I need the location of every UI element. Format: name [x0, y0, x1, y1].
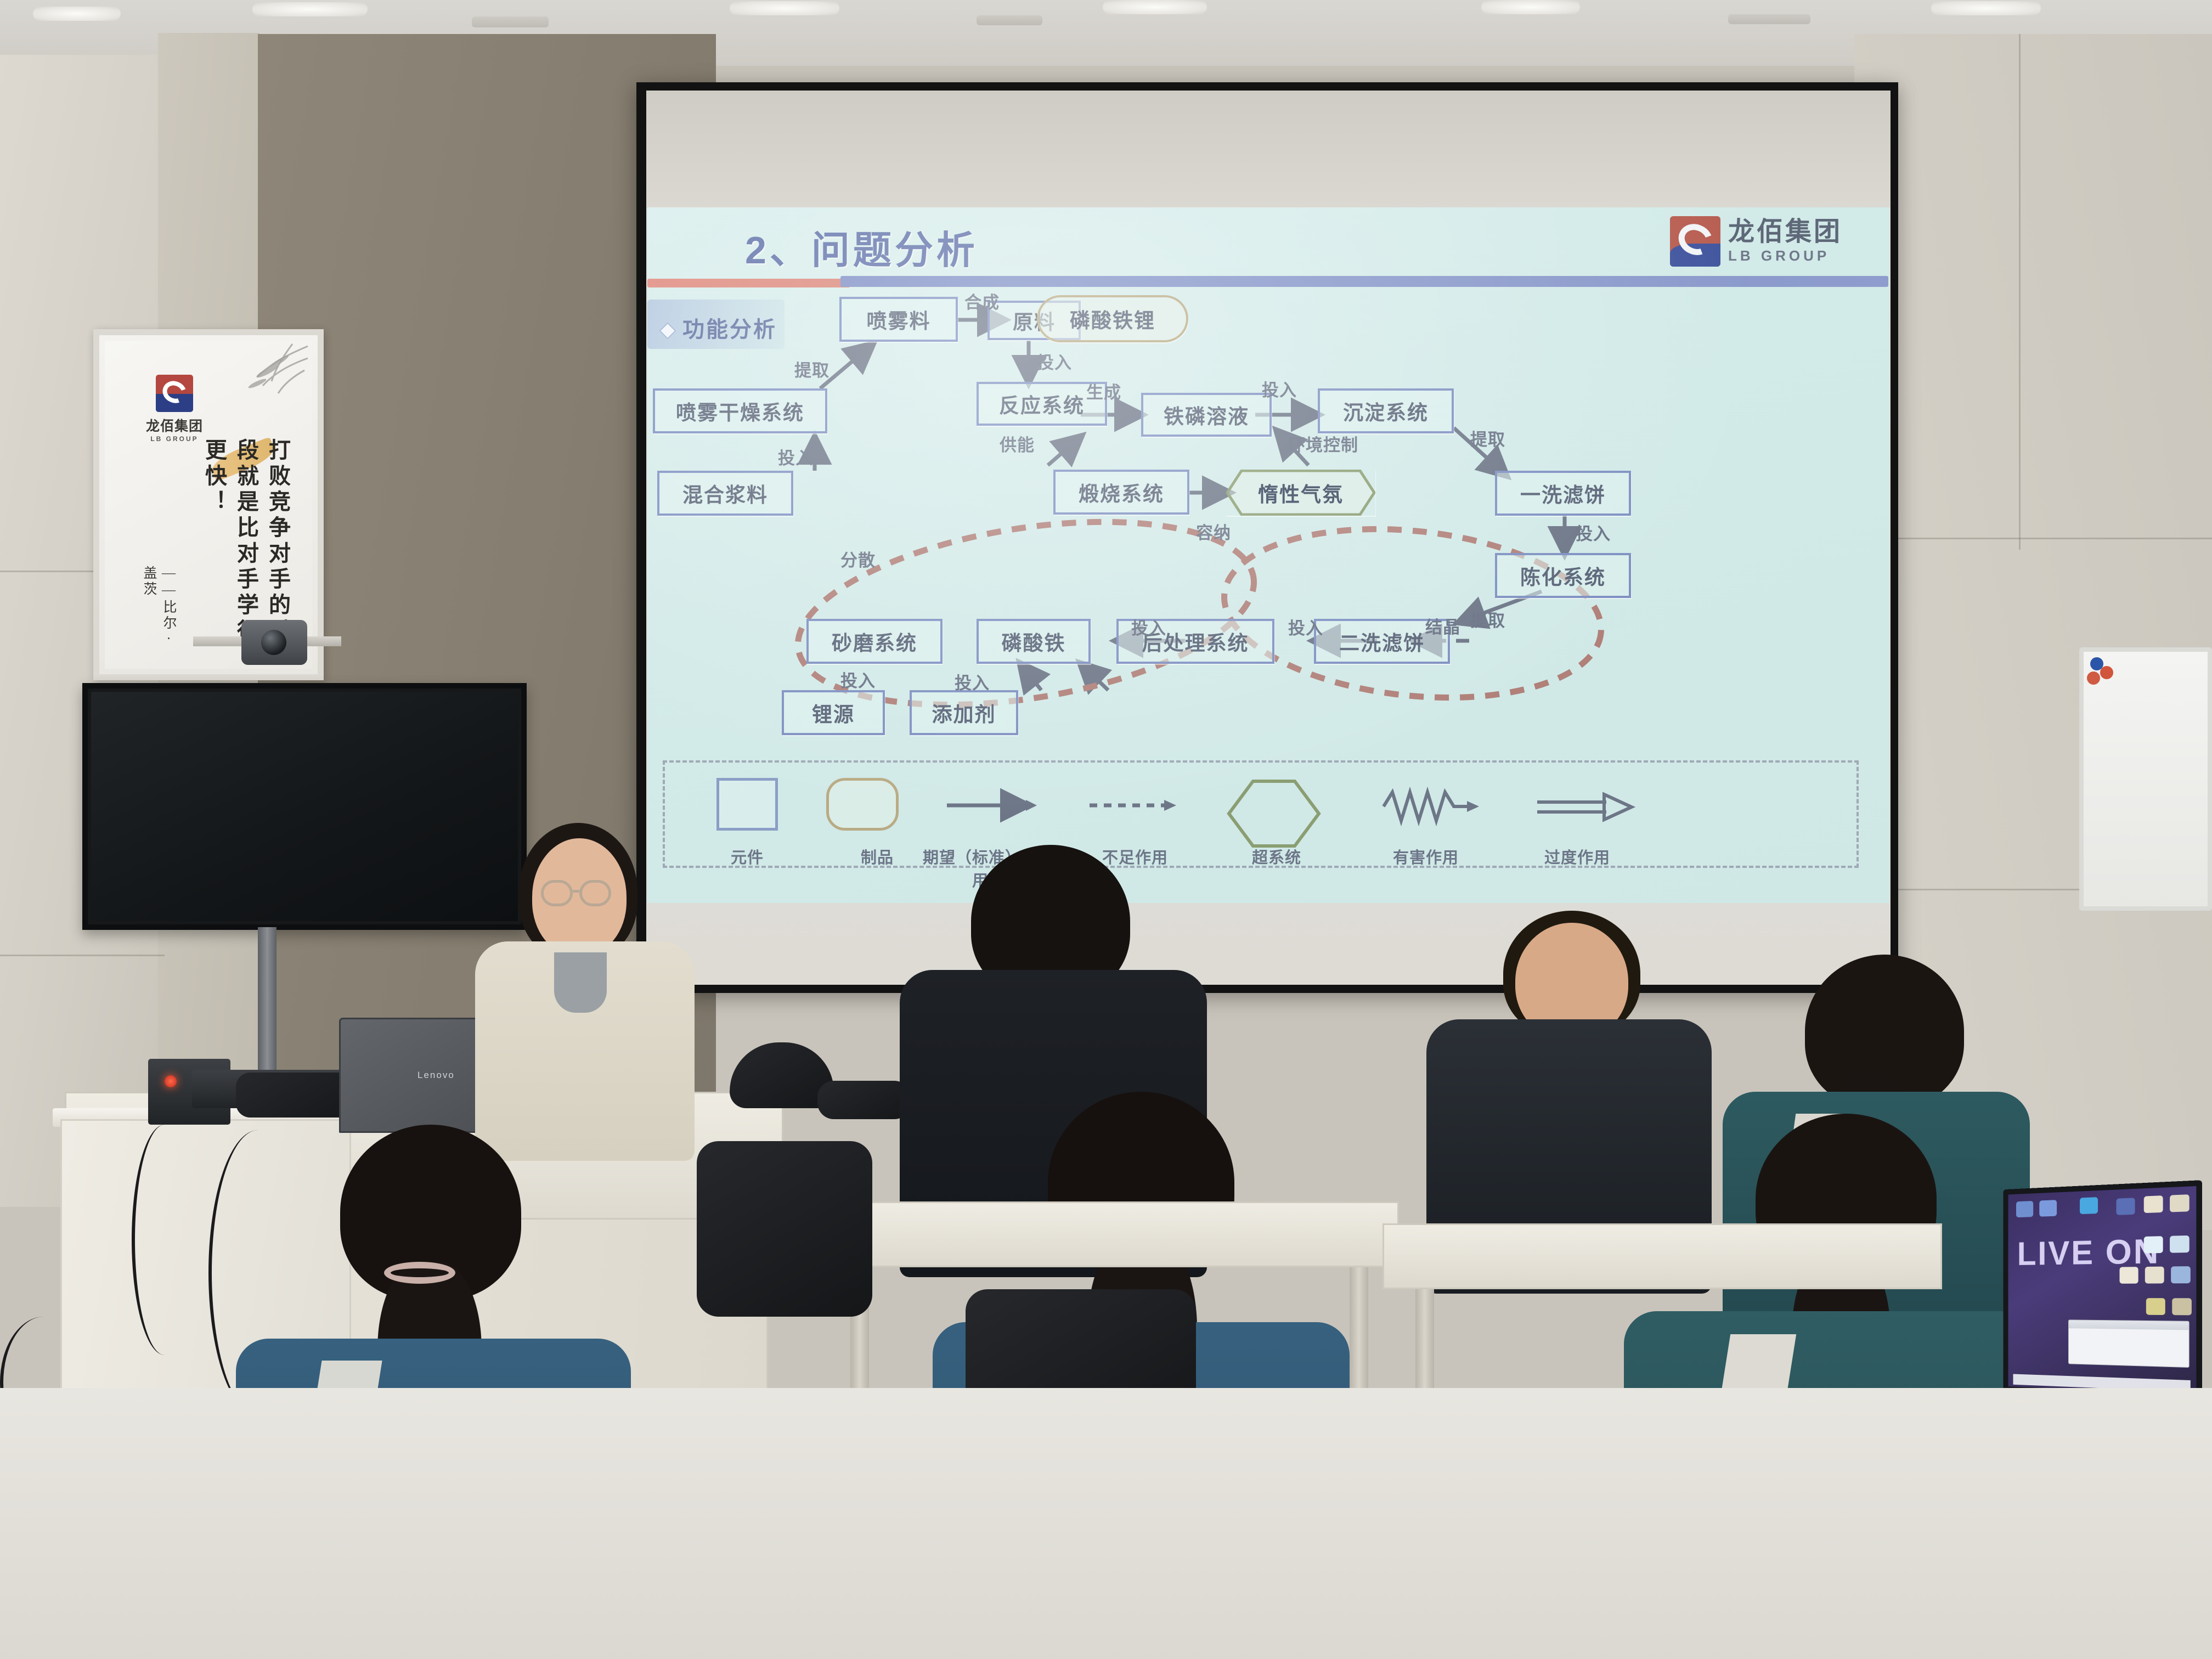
desktop-icon-app[interactable] [2171, 1266, 2191, 1283]
attendee-laptop-screen[interactable]: LIVE ON [2008, 1186, 2196, 1394]
desktop-icon-app[interactable] [2119, 1267, 2138, 1284]
glasses-right-lens-icon [579, 880, 611, 906]
power-led-indicator [165, 1075, 177, 1087]
node-iron-phosphate: 磷酸铁 [977, 619, 1091, 664]
desktop-icon-folder[interactable] [2016, 1201, 2033, 1217]
node-precipitation-system: 沉淀系统 [1318, 388, 1454, 433]
desktop-icon-recycle-bin[interactable] [2117, 1198, 2135, 1215]
node-calcination-system: 煅烧系统 [1053, 470, 1189, 515]
edge-label-generate: 生成 [1086, 379, 1121, 403]
glasses-left-lens-icon [541, 880, 573, 906]
photo-scene: 2、问题分析 功能分析 龙佰集团 LB GROUP [0, 0, 2212, 1659]
section-label: 功能分析 [682, 318, 777, 342]
presenter [472, 823, 702, 1152]
glasses-bridge-icon [573, 890, 579, 893]
audience-desk-row2-right [1383, 1223, 1942, 1289]
backpack [697, 1141, 872, 1317]
desktop-icon-app[interactable] [2145, 1267, 2164, 1284]
attendee-laptop[interactable]: LIVE ON [2003, 1180, 2202, 1409]
ceiling-light [33, 7, 121, 21]
desktop-icon-browser[interactable] [2080, 1197, 2098, 1214]
presentation-slide: 2、问题分析 功能分析 龙佰集团 LB GROUP [647, 207, 1889, 903]
node-lithium-source: 锂源 [782, 690, 885, 735]
ceiling-light [730, 1, 839, 15]
legend-label-excessive-action: 过度作用 [1514, 845, 1640, 868]
desktop-icon-app[interactable] [2170, 1235, 2190, 1253]
node-mixed-slurry: 混合浆料 [657, 471, 793, 516]
desktop-icon-app[interactable] [2144, 1236, 2163, 1253]
edge-label-input-3: 投入 [1576, 520, 1611, 545]
whiteboard [2079, 647, 2212, 911]
power-cable [132, 1125, 198, 1355]
desktop-icon-app[interactable] [2170, 1194, 2190, 1212]
legend-label-supersystem: 超系统 [1214, 845, 1340, 868]
logo-text-cn: 龙佰集团 [1728, 219, 1842, 245]
edge-label-input-6: 投入 [840, 667, 876, 692]
legend-symbol-insufficient-action [1082, 778, 1181, 833]
node-additive: 添加剂 [910, 690, 1018, 735]
wall-display[interactable] [82, 683, 527, 930]
hair-tie [384, 1262, 455, 1284]
legend-symbol-product [813, 778, 912, 831]
dialog-window[interactable] [2068, 1319, 2190, 1368]
legend-label-element: 元件 [684, 845, 810, 868]
edge-label-input-7: 投入 [955, 669, 990, 694]
legend-symbol-supersystem [1224, 778, 1323, 852]
bamboo-illustration-icon [210, 343, 309, 425]
legend-symbol-standard-action [939, 778, 1038, 833]
poster-attribution: ——比尔·盖茨 [139, 566, 178, 659]
logo-text-en: LB GROUP [1728, 247, 1842, 264]
slide-legend: 元件 制品 期望（标准）作用 不足作用 超系统 有害作用 过度作用 [663, 760, 1859, 868]
edge-label-extract-2: 提取 [1470, 607, 1505, 631]
edge-label-contain: 容纳 [1196, 519, 1231, 544]
node-inert-atmosphere-label: 惰性气氛 [1258, 478, 1344, 507]
floor [0, 1388, 2212, 1659]
laptop-brand-label: Lenovo [417, 1070, 455, 1081]
desktop-icon-app[interactable] [2146, 1298, 2165, 1315]
edge-label-disperse: 分散 [840, 546, 876, 571]
node-spray-drying-system: 喷雾干燥系统 [653, 388, 827, 433]
tile-seam [0, 955, 165, 956]
projector-screen-margin [646, 91, 1891, 208]
ceiling-vent [472, 16, 549, 27]
tile-seam [2019, 34, 2021, 550]
ceiling-vent [1728, 14, 1810, 24]
wallpaper-text: LIVE ON [2017, 1232, 2160, 1273]
edge-label-input-2: 投入 [1262, 376, 1297, 401]
node-inert-atmosphere: 惰性气氛 [1226, 470, 1375, 516]
poster-brand-cn: 龙佰集团 [133, 415, 216, 435]
magnet-red[interactable] [2087, 672, 2100, 685]
edge-label-input-8: 投入 [778, 444, 813, 469]
edge-label-crystallize: 结晶 [1425, 613, 1460, 638]
ceiling-light [1103, 0, 1207, 14]
desktop-icon-app[interactable] [2144, 1195, 2163, 1213]
magnet-red[interactable] [2100, 666, 2113, 679]
legend-symbol-element [698, 778, 797, 831]
node-spray-material: 喷雾料 [839, 297, 958, 342]
section-label-row: 功能分析 [662, 312, 777, 343]
legend-symbol-harmful-action [1378, 778, 1477, 833]
node-iron-phosphate-solution: 铁磷溶液 [1141, 393, 1272, 437]
edge-label-energy: 供能 [1000, 431, 1035, 456]
conference-camera[interactable] [241, 620, 307, 665]
node-aging-system: 陈化系统 [1495, 553, 1631, 598]
ceiling-light [252, 2, 368, 16]
legend-symbol-excessive-action [1532, 778, 1630, 833]
poster-lb-logo-icon [156, 375, 193, 412]
ceiling-vent [977, 15, 1042, 25]
desktop-icon-document[interactable] [2039, 1200, 2057, 1217]
ceiling-light [1931, 1, 2041, 15]
desktop-icon-app[interactable] [2172, 1298, 2192, 1315]
edge-label-extract-3: 提取 [794, 357, 830, 381]
cable-coil [817, 1081, 911, 1119]
edge-label-env-control: 环境控制 [1288, 431, 1358, 456]
slide-title: 2、问题分析 [745, 219, 978, 275]
lb-group-logo-icon [1670, 216, 1720, 267]
title-rule-blue [840, 276, 1888, 287]
edge-label-synthesize: 合成 [964, 289, 1000, 313]
dialog-title-bar[interactable] [2069, 1320, 2189, 1330]
node-sand-mill-system: 砂磨系统 [806, 619, 943, 664]
slide-logo: 龙佰集团 LB GROUP [1670, 216, 1842, 267]
node-first-wash-cake: 一洗滤饼 [1495, 471, 1631, 516]
tile-seam [1854, 538, 2212, 539]
ceiling-light [1481, 0, 1580, 14]
audience-desk-row2 [817, 1201, 1399, 1267]
legend-label-harmful-action: 有害作用 [1363, 845, 1489, 868]
poster-logo: 龙佰集团 LB GROUP [133, 375, 216, 443]
diamond-bullet-icon [659, 323, 676, 340]
edge-label-input-5: 投入 [1131, 614, 1166, 639]
presenter-inner-shirt [554, 952, 607, 1013]
edge-label-extract-1: 提取 [1470, 426, 1505, 450]
edge-label-input-1: 投入 [1037, 349, 1072, 374]
title-rule-red [647, 279, 850, 287]
edge-label-input-4: 投入 [1288, 614, 1323, 639]
node-lithium-iron-phosphate: 磷酸铁锂 [1037, 295, 1188, 342]
